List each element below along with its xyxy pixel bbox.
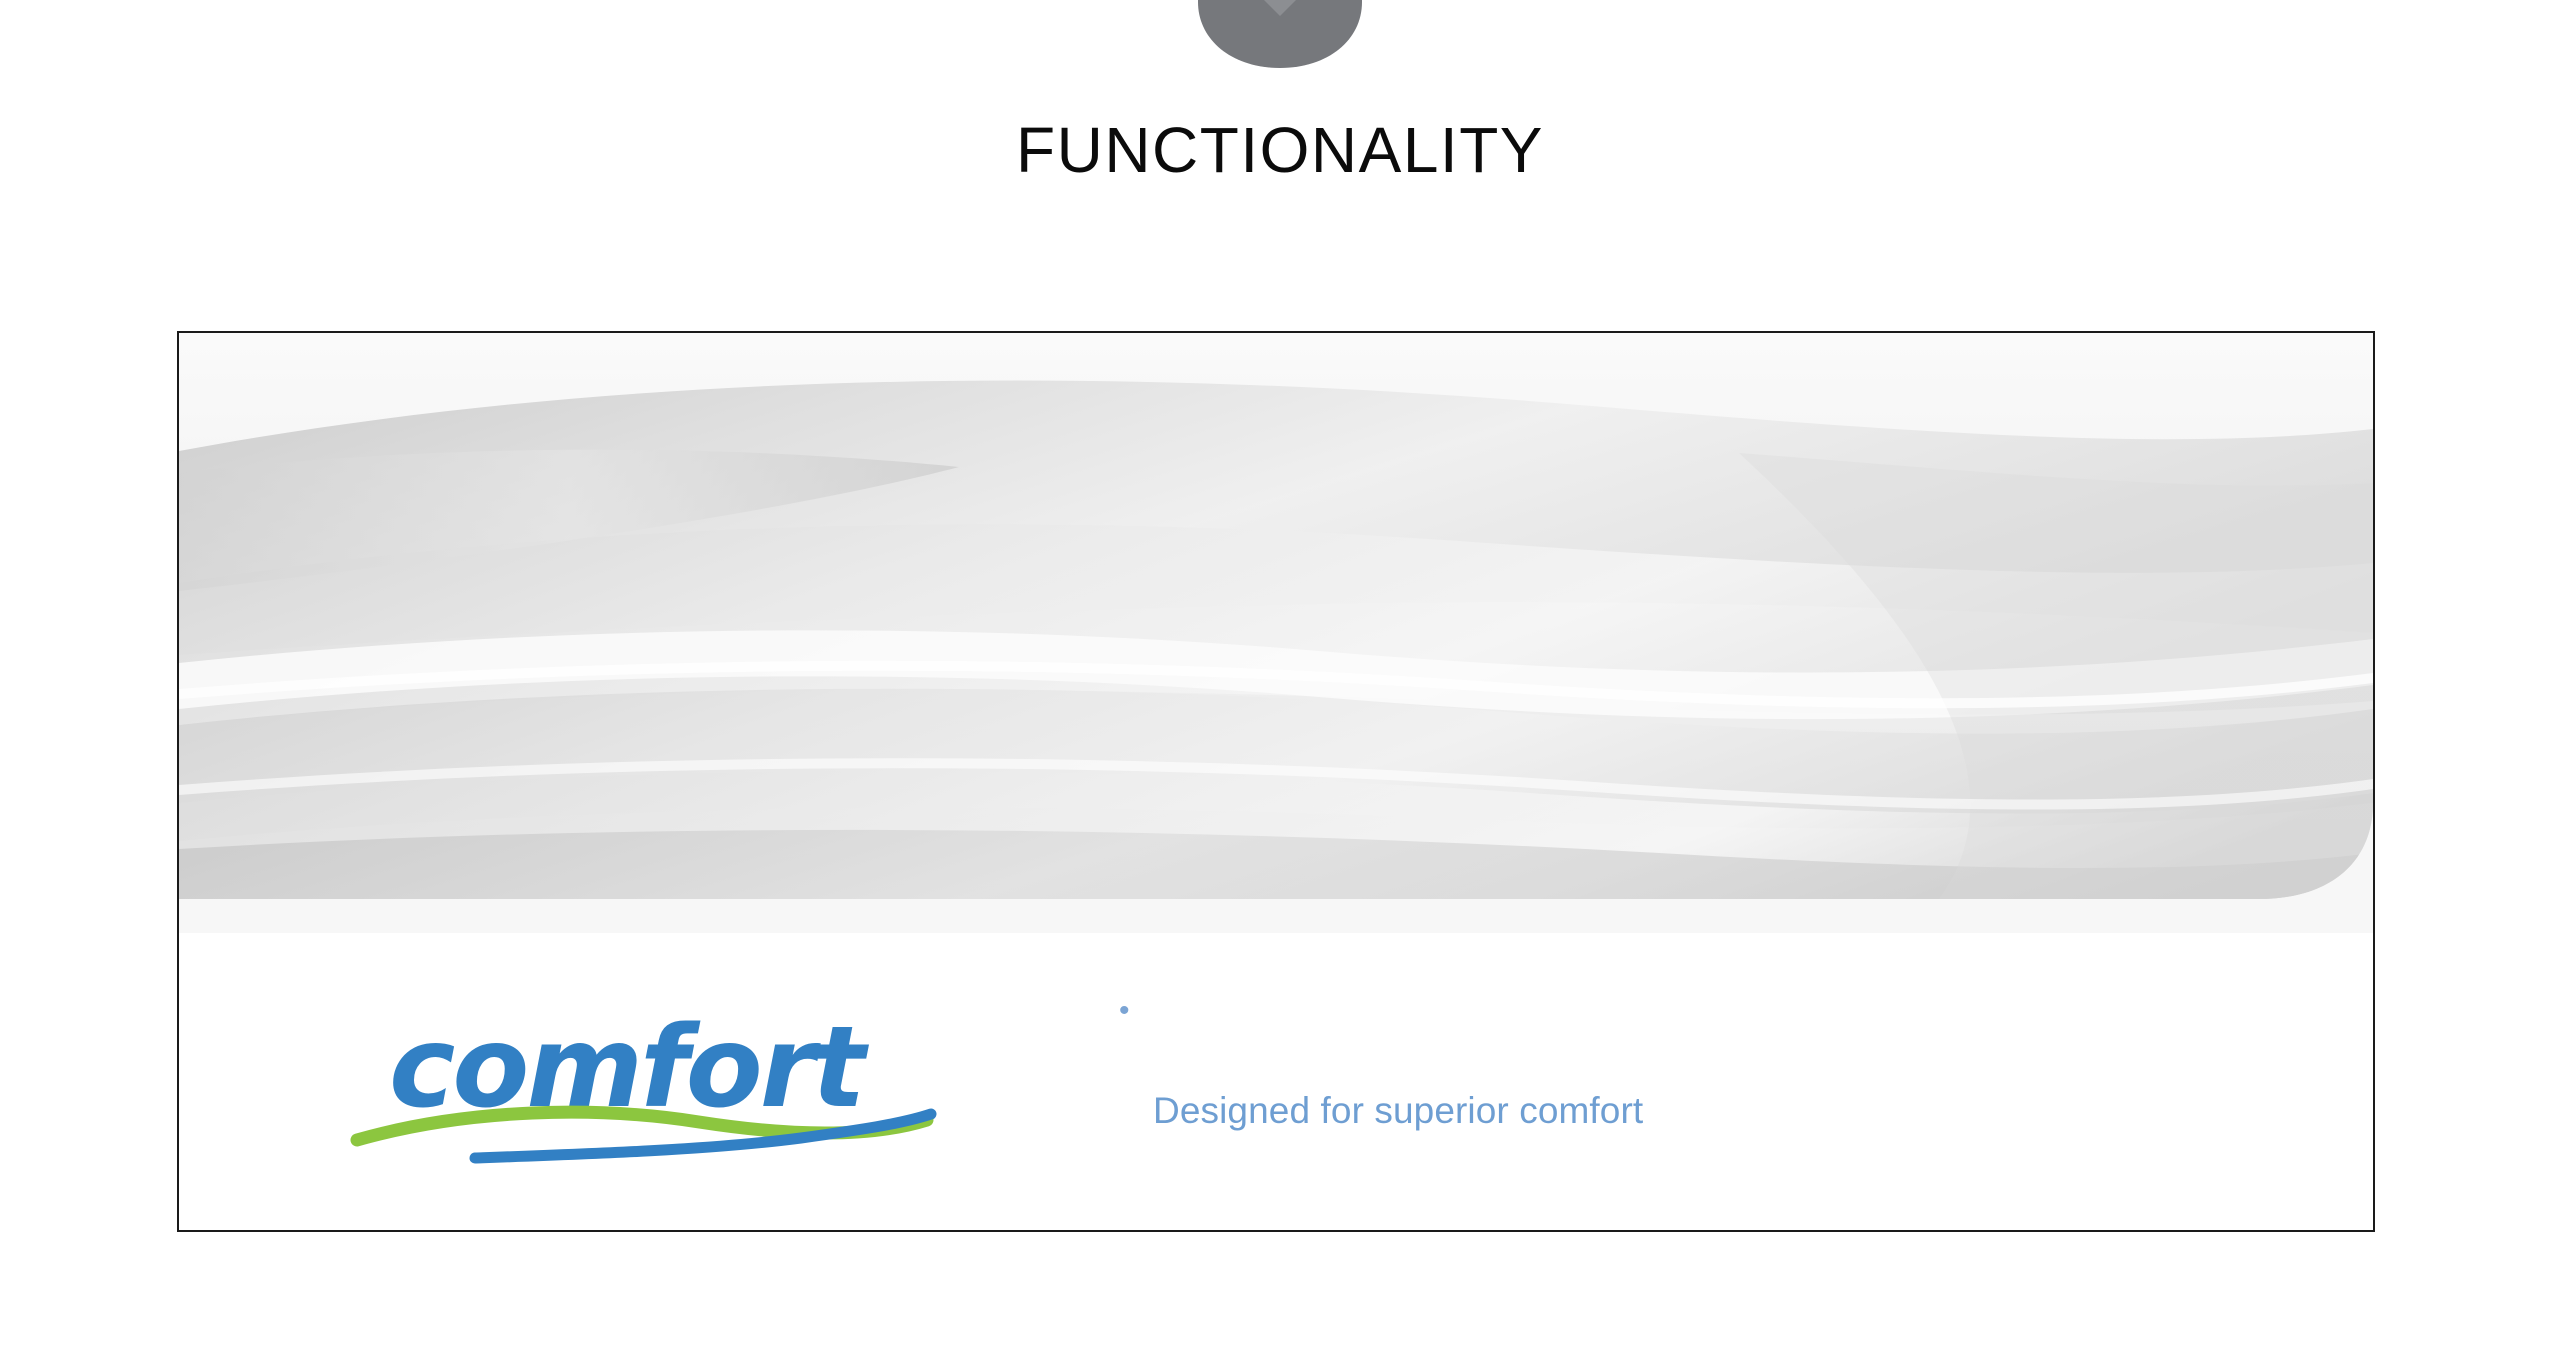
feature-card: comfort • Designed for superior comfort … [177, 331, 2375, 1232]
chevron-shield-icon [1198, 0, 1362, 68]
page-title: FUNCTIONALITY [0, 118, 2560, 182]
feature-bullet-list: • Designed for superior comfort • Provid… [1119, 986, 2373, 1232]
chevron-shield-badge [1198, 0, 1362, 68]
abstract-grey-waves-image [179, 333, 2373, 933]
feature-list: • Designed for superior comfort • Provid… [1119, 933, 2373, 1232]
comfort-logo: comfort [179, 933, 1119, 1168]
list-item: • Designed for superior comfort [1119, 986, 2373, 1232]
bullet-dot-icon: • [1119, 986, 1153, 1036]
comfort-wordmark-icon: comfort [349, 988, 949, 1168]
wave-texture-graphic [179, 333, 2373, 933]
feature-text: Designed for superior comfort [1153, 1086, 1643, 1136]
card-content-row: comfort • Designed for superior comfort … [179, 933, 2373, 1230]
